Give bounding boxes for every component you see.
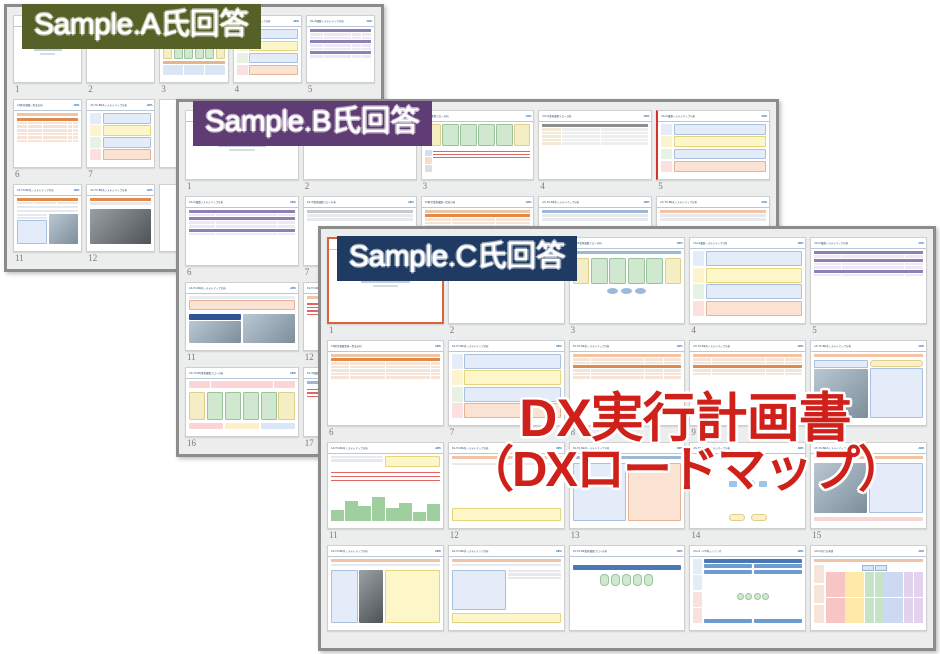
row-labels — [452, 354, 463, 419]
slide-body — [690, 454, 805, 523]
slide-cell[interactable]: AS-IS・IoT導入シナリオ AIPA — [689, 545, 806, 645]
slide-title: AS-TO-BE系システムマップ分析 — [452, 549, 489, 553]
slide-thumbnail[interactable]: AS-IS課題システムマップ分析 AIPA — [656, 110, 770, 180]
slide-footer — [422, 174, 534, 179]
slide-number: 4 — [689, 324, 806, 337]
aipa-logo-icon: AIPA — [435, 549, 441, 553]
slide-cell[interactable]: AS-TO-BE系システムマップ分析 AIPA — [185, 282, 299, 365]
subtitle-band — [17, 113, 78, 116]
deck-c-label: Sample.C氏回答 — [337, 236, 577, 281]
slide-footer — [811, 420, 926, 425]
slide-footer — [449, 318, 564, 323]
slide-footer — [328, 523, 443, 528]
aipa-logo-icon: AIPA — [366, 19, 372, 23]
aipa-logo-icon: AIPA — [73, 188, 79, 192]
slide-footer — [87, 162, 154, 167]
slide-cell[interactable]: AS-TO-BE系システムマップ分析 AIPA — [327, 442, 444, 542]
slide-cell[interactable]: AS-IS業務課題フロー分析 AIPA — [538, 110, 652, 193]
slide-footer — [811, 523, 926, 528]
slide-cell[interactable]: AS-TO-BE系システムマップ分析 AIPA — [689, 340, 806, 440]
slide-title: AS経営課題業務一覧表分析 — [331, 344, 362, 348]
slide-title: AS-TO-BE系システムマップ分析 — [660, 200, 697, 204]
slide-number: 6 — [327, 426, 444, 439]
slide-footer — [186, 174, 298, 179]
slide-thumbnail[interactable]: AS-TO-BE系システムマップ分析 AIPA — [86, 184, 155, 252]
slide-title: AS経営業務課題一覧表分析 — [425, 200, 456, 204]
slide-header: AS-TO-BE系システムマップ分析 AIPA — [811, 341, 926, 352]
slide-footer — [328, 625, 443, 630]
slide-thumbnail[interactable]: AS-TO-BE系システムマップ分析 AIPA — [13, 184, 82, 252]
slide-body — [307, 27, 374, 77]
aipa-logo-icon: AIPA — [643, 114, 649, 118]
slide-header: AS-TO-BE系システムマップ分析 AIPA — [87, 100, 154, 111]
slide-footer — [186, 260, 298, 265]
slide-body — [570, 557, 685, 626]
slide-footer — [539, 174, 651, 179]
slide-number: 5 — [656, 180, 770, 193]
slide-thumbnail[interactable]: AS-IS課題システムマップ分析 AIPA — [810, 237, 927, 324]
slide-header: AS-IS業務課題フロー分析 AIPA — [570, 238, 685, 249]
slide-footer — [570, 523, 685, 528]
slide-thumbnail[interactable]: AS-TO-BE系システムマップ分析 AIPA — [569, 442, 686, 529]
slide-cell[interactable]: AS-TO-BE系システムマップ分析 AIPA — [569, 340, 686, 440]
slide-header: AS-TO-BE系システムマップ分析 AIPA — [449, 341, 564, 352]
slide-number: 3 — [569, 324, 686, 337]
slide-cell[interactable]: AS-TO-BE系システムマップ分析 AIPA — [448, 340, 565, 440]
slide-thumbnail[interactable]: AS-IS業務課題フロー分析 AIPA — [569, 237, 686, 324]
slide-header: AS-IS・IoT導入シナリオ AIPA — [690, 546, 805, 557]
row-labels — [425, 150, 432, 172]
aipa-logo-icon: AIPA — [73, 103, 79, 107]
slide-title: AS-TO-BE系システムマップ分析 — [17, 188, 54, 192]
slide-number: 14 — [689, 529, 806, 542]
slide-title: AS-TO-BE系システムマップ分析 — [90, 103, 127, 107]
slide-footer — [570, 318, 685, 323]
slide-title: AS-TO-BE系システムマップ分析 — [814, 446, 851, 450]
slide-title: AS-IS課題システムマップ分析 — [693, 241, 727, 245]
deck-c-row-2: AS経営課題業務一覧表分析 AIPA — [327, 340, 927, 440]
slide-footer — [14, 162, 81, 167]
slide-body — [811, 249, 926, 318]
slide-number: 9 — [689, 426, 806, 439]
slide-footer — [690, 318, 805, 323]
slide-header: AS-TO-BE系システムマップ分析 AIPA — [570, 341, 685, 352]
slide-footer — [570, 420, 685, 425]
slide-header: AS-IS業務課題フロー分析 AIPA — [539, 111, 651, 122]
slide-body — [87, 111, 154, 161]
slide-title: AS-IS課題システムマップ分析 — [310, 19, 344, 23]
slide-cell[interactable]: AS-TO-BE業務課題フロー分析 AIPA — [185, 367, 299, 450]
aipa-logo-icon: AIPA — [526, 200, 532, 204]
row-labels — [661, 124, 672, 172]
aipa-logo-icon: AIPA — [797, 241, 803, 245]
slide-title: AS-TO-BE業務課題フロー分析 — [573, 549, 607, 553]
slide-body — [690, 352, 805, 421]
data-table — [310, 29, 371, 58]
aipa-logo-icon: AIPA — [761, 200, 767, 204]
slide-title: AS-TO-BE系システムマップ分析 — [542, 200, 579, 204]
slide-cell[interactable]: AS-IS実行計画書 AIPA — [810, 545, 927, 645]
slide-footer — [87, 77, 154, 82]
slide-title: AS-TO-BE系システムマップ分析 — [189, 286, 226, 290]
row-labels — [693, 559, 702, 624]
slide-body — [690, 249, 805, 318]
slide-footer — [449, 420, 564, 425]
row-labels — [814, 565, 824, 623]
slide-header: AS-TO-BE系システムマップ分析 AIPA — [657, 197, 769, 208]
deck-c-row-4: AS-TO-BE系システムマップ分析 AIPA — [327, 545, 927, 645]
aipa-logo-icon: AIPA — [526, 114, 532, 118]
aipa-logo-icon: AIPA — [677, 344, 683, 348]
slide-number: 4 — [538, 180, 652, 193]
slide-footer — [811, 318, 926, 323]
aipa-logo-icon: AIPA — [290, 200, 296, 204]
slide-body — [811, 557, 926, 626]
slide-number: 2 — [448, 324, 565, 337]
slide-footer — [449, 625, 564, 630]
slide-cell[interactable]: AS-TO-BE系システムマップ分析 AIPA — [327, 545, 444, 645]
slide-body — [449, 557, 564, 626]
aipa-logo-icon: AIPA — [797, 344, 803, 348]
deck-c-row-3: AS-TO-BE系システムマップ分析 AIPA — [327, 442, 927, 542]
slide-body — [87, 196, 154, 246]
slide-header: AS-IS課題システムマップ分析 AIPA — [690, 238, 805, 249]
slide-title: AS-TO-BE系システムマップ分析 — [331, 549, 368, 553]
slide-thumbnail[interactable]: AS経営課題一覧表分析 AIPA — [13, 99, 82, 167]
process-flow — [189, 392, 295, 420]
slide-footer — [811, 625, 926, 630]
slide-header: AS-TO-BE系システムマップ分析 AIPA — [690, 443, 805, 454]
data-table — [90, 198, 151, 201]
data-table — [17, 198, 78, 205]
slide-title: AS経営課題一覧表分析 — [17, 103, 43, 107]
slide-body — [539, 122, 651, 174]
slide-body — [186, 208, 298, 260]
slide-body — [690, 557, 805, 626]
slide-thumbnail[interactable]: AS-TO-BE系システムマップ分析 AIPA — [327, 442, 444, 529]
slide-thumbnail[interactable]: AS-TO-BE系システムマップ分析 AIPA — [448, 340, 565, 427]
slide-body — [328, 352, 443, 421]
aipa-logo-icon: AIPA — [556, 549, 562, 553]
data-table — [814, 251, 923, 276]
slide-header: AS-TO-BE系システムマップ分析 AIPA — [811, 443, 926, 454]
slide-title: AS-TO-BE系システムマップ分析 — [814, 344, 851, 348]
slide-title: AS-IS業務課題フロー分析 — [542, 114, 571, 118]
slide-cell[interactable]: AS-IS課題システムマップ分析 AIPA — [185, 196, 299, 279]
slide-title: AS-IS業務課題フロー分析 — [307, 200, 336, 204]
slide-body — [328, 557, 443, 626]
slide-number — [689, 631, 806, 644]
slide-body — [570, 352, 685, 421]
slide-deck-c[interactable]: AIPA 1 AS-IS課題業務一覧表分析 AIPA — [318, 226, 936, 651]
slide-number: 7 — [86, 168, 155, 181]
slide-thumbnail[interactable]: AS-IS・IoT導入シナリオ AIPA — [689, 545, 806, 632]
slide-thumbnail[interactable]: AS-TO-BE系システムマップ分析 AIPA — [86, 99, 155, 167]
slide-title: AS-IS・IoT導入シナリオ — [693, 549, 721, 553]
slide-title: AS-IS実行計画書 — [814, 549, 833, 553]
slide-number: 13 — [569, 529, 686, 542]
slide-cell[interactable]: AS-IS課題システムマップ分析 AIPA — [689, 237, 806, 337]
slide-number: 11 — [327, 529, 444, 542]
slide-title: AS-TO-BE系システムマップ分析 — [573, 344, 610, 348]
slide-cell[interactable]: AS-TO-BE業務課題フロー分析 AIPA — [569, 545, 686, 645]
deck-a-label: Sample.A氏回答 — [22, 4, 261, 49]
slide-footer — [186, 345, 298, 350]
slide-cell[interactable]: AS-IS業務フロー分析 AIPA — [421, 110, 535, 193]
slide-title: AS-TO-BE系システムマップ分析 — [452, 344, 489, 348]
slide-number — [327, 631, 444, 644]
slide-body — [811, 352, 926, 421]
slide-number: 12 — [86, 252, 155, 265]
slide-header: AS-IS業務フロー分析 AIPA — [422, 111, 534, 122]
slide-header: AS-IS課題システムマップ分析 AIPA — [658, 111, 769, 122]
slide-footer — [307, 77, 374, 82]
slide-number: 1 — [185, 180, 299, 193]
aipa-logo-icon: AIPA — [643, 200, 649, 204]
slide-body — [570, 249, 685, 318]
slide-number: 5 — [810, 324, 927, 337]
aipa-logo-icon: AIPA — [677, 446, 683, 450]
slide-number: 6 — [13, 168, 82, 181]
data-table — [573, 358, 682, 379]
aipa-logo-icon: AIPA — [293, 19, 299, 23]
slide-thumbnail[interactable]: AS-IS業務フロー分析 AIPA — [421, 110, 535, 180]
slide-cell[interactable]: AS-TO-BE系システムマップ分析 AIPA — [86, 99, 155, 180]
slide-header: AS-TO-BE系システムマップ分析 AIPA — [14, 185, 81, 196]
slide-body — [328, 454, 443, 523]
slide-cell[interactable]: AS-TO-BE系システムマップ分析 AIPA — [448, 545, 565, 645]
slide-header: AS経営課題業務一覧表分析 AIPA — [328, 341, 443, 352]
aipa-logo-icon: AIPA — [435, 446, 441, 450]
aipa-logo-icon: AIPA — [147, 103, 153, 107]
slide-thumbnail[interactable]: AS-TO-BE系システムマップ分析 AIPA — [689, 340, 806, 427]
aipa-logo-icon: AIPA — [918, 446, 924, 450]
slide-number: 1 — [327, 324, 444, 337]
aipa-logo-icon: AIPA — [918, 344, 924, 348]
slide-title: AS-TO-BE系システムマップ分析 — [331, 446, 368, 450]
slide-footer — [186, 431, 298, 436]
slide-cell[interactable]: AS-TO-BE系システムマップ分析 AIPA — [810, 442, 927, 542]
slide-title: AS-TO-BE系システムマップ分析 — [452, 446, 489, 450]
aipa-logo-icon: AIPA — [408, 200, 414, 204]
slide-body — [422, 122, 534, 174]
aipa-logo-icon: AIPA — [677, 549, 683, 553]
slide-number: 16 — [185, 437, 299, 450]
slide-header: AS-TO-BE業務課題フロー分析 AIPA — [186, 368, 298, 379]
slide-cell[interactable]: AS-IS課題システムマップ分析 AIPA — [810, 237, 927, 337]
process-band — [163, 61, 224, 64]
slide-header: AS-TO-BE系システムマップ分析 AIPA — [328, 546, 443, 557]
aipa-logo-icon: AIPA — [435, 344, 441, 348]
process-flow — [573, 258, 682, 284]
slide-header: AS-TO-BE系システムマップ分析 AIPA — [186, 283, 298, 294]
slide-number: 4 — [233, 83, 302, 96]
slide-thumbnail[interactable]: AS-IS課題システムマップ分析 AIPA — [185, 196, 299, 266]
aipa-logo-icon: AIPA — [147, 188, 153, 192]
slide-number: 11 — [13, 252, 82, 265]
slide-title: AS-TO-BE系システムマップ分析 — [90, 188, 127, 192]
data-table — [17, 118, 78, 143]
slide-header: AS-IS実行計画書 AIPA — [811, 546, 926, 557]
slide-number: 3 — [421, 180, 535, 193]
slide-footer — [570, 625, 685, 630]
slide-thumbnail[interactable]: AS-TO-BE系システムマップ分析 AIPA — [448, 545, 565, 632]
slide-body — [658, 122, 769, 174]
slide-cell[interactable]: AS-TO-BE系システムマップ分析 AIPA — [810, 340, 927, 440]
slide-title: AS-IS課題システムマップ分析 — [814, 241, 848, 245]
slide-number: 8 — [569, 426, 686, 439]
slide-thumbnail[interactable]: AS経営課題業務一覧表分析 AIPA — [327, 340, 444, 427]
slide-thumbnail[interactable]: AS-TO-BE系システムマップ分析 AIPA — [569, 340, 686, 427]
slide-footer — [658, 174, 769, 179]
slide-footer — [160, 77, 227, 82]
decor-line — [40, 53, 55, 55]
data-table — [331, 358, 440, 379]
slide-body — [570, 454, 685, 523]
slide-header: AS経営業務課題一覧表分析 AIPA — [422, 197, 534, 208]
slide-number: 15 — [810, 529, 927, 542]
slide-title: AS-IS課題システムマップ分析 — [661, 114, 695, 118]
slide-header: AS-TO-BE系システムマップ分析 AIPA — [539, 197, 651, 208]
slide-number: 11 — [185, 351, 299, 364]
map-group — [249, 65, 298, 75]
slide-number — [448, 631, 565, 644]
chip-row — [163, 65, 224, 75]
slide-title: AS-TO-BE系システムマップ分析 — [693, 446, 730, 450]
slide-footer — [14, 77, 81, 82]
slide-number: 12 — [448, 529, 565, 542]
slide-cell[interactable]: AS-TO-BE系システムマップ分析 AIPA — [689, 442, 806, 542]
slide-body — [811, 454, 926, 523]
slide-footer — [87, 246, 154, 251]
slide-thumbnail[interactable]: AS-IS実行計画書 AIPA — [810, 545, 927, 632]
slide-thumbnail[interactable]: AS-TO-BE業務課題フロー分析 AIPA — [185, 367, 299, 437]
slide-header: AS-TO-BE系システムマップ分析 AIPA — [87, 185, 154, 196]
slide-number: 3 — [159, 83, 228, 96]
slide-image — [49, 214, 79, 244]
row-labels — [90, 113, 101, 159]
slide-footer — [690, 420, 805, 425]
slide-footer — [329, 317, 442, 322]
slide-body — [186, 379, 298, 431]
slide-header: AS経営課題一覧表分析 AIPA — [14, 100, 81, 111]
aipa-logo-icon: AIPA — [918, 241, 924, 245]
slide-thumbnail[interactable]: AS-TO-BE系システムマップ分析 AIPA — [689, 442, 806, 529]
slide-thumbnail[interactable]: AS-TO-BE系システムマップ分析 AIPA — [327, 545, 444, 632]
slide-thumbnail[interactable]: AS-IS課題システムマップ分析 AIPA — [689, 237, 806, 324]
row-labels — [693, 251, 704, 316]
process-flow — [425, 124, 531, 146]
slide-footer — [234, 77, 301, 82]
slide-cell[interactable]: AS-IS課題システムマップ分析 AIPA — [656, 110, 770, 193]
slide-cell[interactable]: AS-TO-BE系システムマップ分析 AIPA 12 — [86, 184, 155, 265]
slide-footer — [449, 523, 564, 528]
slide-body — [449, 352, 564, 421]
slide-body — [14, 111, 81, 161]
slide-number: 7 — [448, 426, 565, 439]
slide-cell[interactable]: AS-IS課題システムマップ分析 AIPA — [306, 15, 375, 96]
aipa-logo-icon: AIPA — [918, 549, 924, 553]
slide-thumbnail[interactable]: AS-TO-BE系システムマップ分析 AIPA — [810, 340, 927, 427]
slide-thumbnail[interactable]: AS-TO-BE業務課題フロー分析 AIPA — [569, 545, 686, 632]
deck-c-grid: AIPA 1 AS-IS課題業務一覧表分析 AIPA — [321, 229, 933, 648]
aipa-logo-icon: AIPA — [290, 371, 296, 375]
data-table — [189, 210, 295, 235]
aipa-logo-icon: AIPA — [797, 549, 803, 553]
slide-title: AS-TO-BE系システムマップ分析 — [573, 446, 610, 450]
slide-footer — [328, 420, 443, 425]
slide-cell[interactable]: AS-IS業務課題フロー分析 AIPA — [569, 237, 686, 337]
slide-title: AS-TO-BE業務課題フロー分析 — [189, 371, 223, 375]
map-group — [249, 53, 298, 63]
slide-footer — [14, 246, 81, 251]
slide-number: 6 — [185, 266, 299, 279]
aipa-logo-icon: AIPA — [761, 114, 767, 118]
slide-cell[interactable]: AS経営課題業務一覧表分析 AIPA — [327, 340, 444, 440]
slide-image — [90, 209, 151, 244]
slide-thumbnail[interactable]: AS-TO-BE系システムマップ分析 AIPA — [185, 282, 299, 352]
slide-cell[interactable]: AS経営課題一覧表分析 AIPA — [13, 99, 82, 180]
slide-body — [14, 196, 81, 246]
slide-header: AS-IS課題システムマップ分析 AIPA — [307, 16, 374, 27]
slide-header: AS-TO-BE系システムマップ分析 AIPA — [449, 443, 564, 454]
slide-footer — [690, 523, 805, 528]
aipa-logo-icon: AIPA — [797, 446, 803, 450]
slide-body — [449, 454, 564, 523]
slide-footer — [690, 625, 805, 630]
slide-cell[interactable]: AS-TO-BE系システムマップ分析 AIPA 12 — [448, 442, 565, 542]
slide-header: AS-IS課題システムマップ分析 AIPA — [811, 238, 926, 249]
slide-number: 5 — [306, 83, 375, 96]
slide-number: 2 — [86, 83, 155, 96]
deck-b-label: Sample.B氏回答 — [193, 101, 432, 146]
slide-cell[interactable]: AS-TO-BE系システムマップ分析 AIPA — [13, 184, 82, 265]
slide-header: AS-TO-BE系システムマップ分析 AIPA — [690, 341, 805, 352]
aipa-logo-icon: AIPA — [556, 446, 562, 450]
slide-thumbnail[interactable]: AS-IS課題システムマップ分析 AIPA — [306, 15, 375, 83]
slide-thumbnail[interactable]: AS-TO-BE系システムマップ分析 AIPA — [448, 442, 565, 529]
slide-title: AS-TO-BE系システムマップ分析 — [693, 344, 730, 348]
data-table — [542, 124, 648, 145]
slide-number: 2 — [303, 180, 417, 193]
slide-header: AS-TO-BE系システムマップ分析 AIPA — [328, 443, 443, 454]
decor-line — [34, 49, 62, 52]
slide-title: AS-IS課題システムマップ分析 — [189, 200, 223, 204]
slide-footer — [304, 174, 416, 179]
slide-thumbnail[interactable]: AS-IS業務課題フロー分析 AIPA — [538, 110, 652, 180]
data-table — [693, 358, 802, 375]
slide-number — [810, 631, 927, 644]
slide-number — [569, 631, 686, 644]
slide-thumbnail[interactable]: AS-TO-BE系システムマップ分析 AIPA — [810, 442, 927, 529]
slide-body — [186, 294, 298, 346]
aipa-logo-icon: AIPA — [290, 286, 296, 290]
slide-header: AS-IS業務課題フロー分析 AIPA — [304, 197, 416, 208]
slide-header: AS-IS課題システムマップ分析 AIPA — [186, 197, 298, 208]
slide-header: AS-TO-BE系システムマップ分析 AIPA — [570, 443, 685, 454]
slide-header: AS-TO-BE系システムマップ分析 AIPA — [449, 546, 564, 557]
slide-number: 1 — [13, 83, 82, 96]
slide-number: 10 — [810, 426, 927, 439]
aipa-logo-icon: AIPA — [677, 241, 683, 245]
aipa-logo-icon: AIPA — [556, 344, 562, 348]
slide-header: AS-TO-BE業務課題フロー分析 AIPA — [570, 546, 685, 557]
slide-cell[interactable]: AS-TO-BE系システムマップ分析 AIPA 13 — [569, 442, 686, 542]
